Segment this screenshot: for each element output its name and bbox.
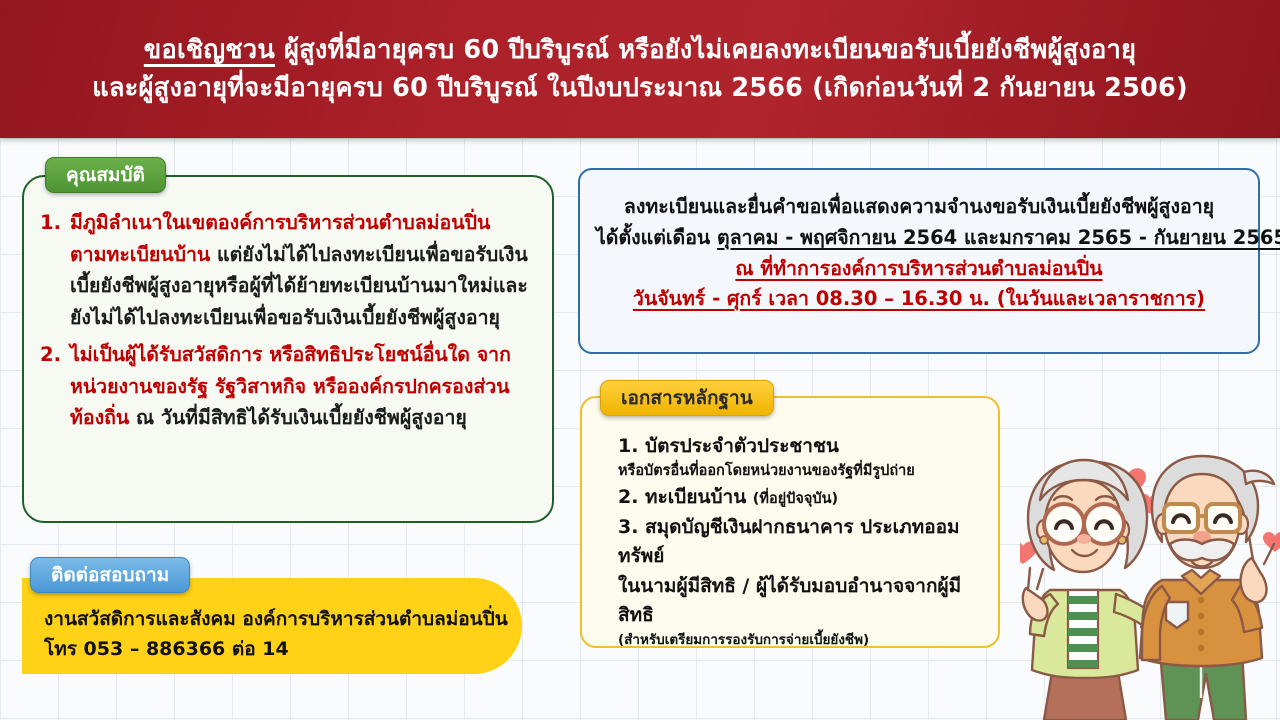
qualification-item-1-text: มีภูมิลำเนาในเขตองค์การบริหารส่วนตำบลม่อ…	[70, 207, 530, 333]
qualifications-list: 1. มีภูมิลำเนาในเขตองค์การบริหารส่วนตำบล…	[24, 177, 552, 434]
tab-qualifications: คุณสมบัติ	[45, 157, 166, 193]
qualification-item-2-seg2: ณ วันที่มีสิทธิได้รับเงินเบี้ยยังชีพผู้ส…	[129, 406, 467, 429]
document-item-1: 1. บัตรประจำตัวประชาชน	[618, 432, 984, 461]
document-item-2-paren: (ที่อยู่ปัจจุบัน)	[753, 491, 838, 507]
panel-registration-info: ลงทะเบียนและยื่นคำขอเพื่อแสดงความจำนงขอร…	[578, 168, 1260, 354]
document-item-1-note: หรือบัตรอื่นที่ออกโดยหน่วยงานของรัฐที่มี…	[618, 461, 984, 483]
tab-documents: เอกสารหลักฐาน	[600, 380, 774, 416]
contact-office-name: งานสวัสดิการและสังคม องค์การบริหารส่วนตำ…	[44, 604, 522, 634]
qualification-item-2-number: 2.	[40, 339, 70, 434]
registration-line-4-hours: วันจันทร์ - ศุกร์ เวลา 08.30 – 16.30 น. …	[596, 284, 1242, 315]
elderly-couple-illustration: .ln{fill:none;stroke:#8a5a46;stroke-widt…	[1020, 438, 1280, 720]
registration-line-2: ได้ตั้งแต่เดือน ตุลาคม - พฤศจิกายน 2564 …	[596, 223, 1242, 254]
tab-contact-label: ติดต่อสอบถาม	[51, 560, 169, 590]
qualification-item-1: 1. มีภูมิลำเนาในเขตองค์การบริหารส่วนตำบล…	[40, 207, 530, 333]
qualification-item-1-seg2: ตามทะเบียนบ้าน	[70, 243, 210, 266]
tab-documents-label: เอกสารหลักฐาน	[621, 383, 753, 413]
document-item-3-note: (สำหรับเตรียมการรองรับการจ่ายเบี้ยยังชีพ…	[618, 630, 984, 650]
tab-contact: ติดต่อสอบถาม	[30, 557, 190, 593]
qualification-item-2: 2. ไม่เป็นผู้ได้รับสวัสดิการ หรือสิทธิปร…	[40, 339, 530, 434]
header-line-1-rest: ผู้สูงที่มีอายุครบ 60 ปีบริบูรณ์ หรือยัง…	[275, 35, 1136, 65]
registration-line-2-period: ตุลาคม - พฤศจิกายน 2564 และมกราคม 2565 -…	[717, 226, 1280, 249]
panel-qualifications: 1. มีภูมิลำเนาในเขตองค์การบริหารส่วนตำบล…	[22, 175, 554, 523]
document-item-3-line-2: ในนามผู้มีสิทธิ / ผู้ได้รับมอบอำนาจจากผู…	[618, 572, 984, 631]
header-line-2: และผู้สูงอายุที่จะมีอายุครบ 60 ปีบริบูรณ…	[92, 69, 1188, 107]
tab-qualifications-label: คุณสมบัติ	[66, 160, 145, 190]
registration-line-1: ลงทะเบียนและยื่นคำขอเพื่อแสดงความจำนงขอร…	[596, 192, 1242, 223]
registration-line-3-location: ณ ที่ทำการองค์การบริหารส่วนตำบลม่อนปิ่น	[596, 254, 1242, 285]
contact-phone: โทร 053 – 886366 ต่อ 14	[44, 634, 522, 664]
document-item-2: 2. ทะเบียนบ้าน (ที่อยู่ปัจจุบัน)	[618, 483, 984, 512]
qualification-item-1-number: 1.	[40, 207, 70, 333]
qualification-item-2-text: ไม่เป็นผู้ได้รับสวัสดิการ หรือสิทธิประโย…	[70, 339, 530, 434]
header-line-1-emphasis: ขอเชิญชวน	[144, 35, 275, 65]
panel-required-documents: 1. บัตรประจำตัวประชาชน หรือบัตรอื่นที่ออ…	[580, 396, 1000, 648]
elderly-man-figure	[1140, 456, 1274, 720]
header-line-1: ขอเชิญชวน ผู้สูงที่มีอายุครบ 60 ปีบริบูร…	[144, 31, 1136, 69]
document-item-3-line-1: 3. สมุดบัญชีเงินฝากธนาคาร ประเภทออมทรัพย…	[618, 513, 984, 572]
registration-line-2-prefix: ได้ตั้งแต่เดือน	[596, 226, 717, 249]
poster-header-banner: ขอเชิญชวน ผู้สูงที่มีอายุครบ 60 ปีบริบูร…	[0, 0, 1280, 138]
document-item-2-main: 2. ทะเบียนบ้าน	[618, 486, 753, 508]
qualification-item-1-seg1: มีภูมิลำเนาในเขตองค์การบริหารส่วนตำบลม่อ…	[70, 211, 490, 234]
